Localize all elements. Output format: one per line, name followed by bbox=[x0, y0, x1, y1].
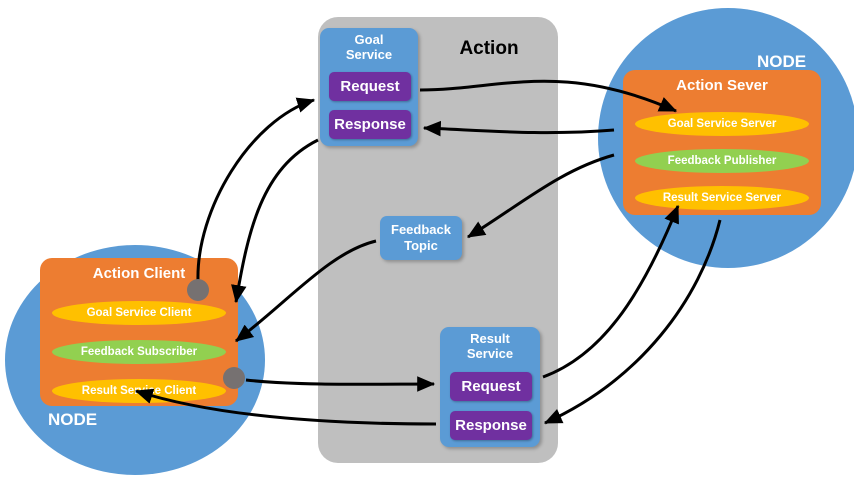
feedback-topic-title-line2: Topic bbox=[404, 238, 438, 254]
result-service-title: Result Service bbox=[440, 331, 540, 361]
result-service-response-chip[interactable]: Response bbox=[450, 411, 532, 440]
result-service-box: Result Service Request Response bbox=[440, 327, 540, 447]
pill-result-service-client[interactable]: Result Service Client bbox=[52, 379, 226, 403]
pill-goal-service-server[interactable]: Goal Service Server bbox=[635, 112, 809, 136]
goal-service-title-line1: Goal bbox=[320, 32, 418, 47]
goal-service-request-chip[interactable]: Request bbox=[329, 72, 411, 101]
node-label-client: NODE bbox=[48, 410, 97, 430]
goal-service-title-line2: Service bbox=[320, 47, 418, 62]
connector-dot-goal-client bbox=[187, 279, 209, 301]
goal-service-title: Goal Service bbox=[320, 32, 418, 62]
diagram-canvas: Action NODE NODE Action Sever Goal Servi… bbox=[0, 0, 854, 480]
node-label-server: NODE bbox=[757, 52, 806, 72]
action-client-box: Action Client Goal Service Client Feedba… bbox=[40, 258, 238, 406]
goal-service-box: Goal Service Request Response bbox=[320, 28, 418, 146]
goal-service-response-chip[interactable]: Response bbox=[329, 110, 411, 139]
action-server-title: Action Sever bbox=[623, 77, 821, 94]
result-service-request-chip[interactable]: Request bbox=[450, 372, 532, 401]
wire-client-goal-to-request bbox=[198, 100, 314, 281]
pill-result-service-server[interactable]: Result Service Server bbox=[635, 186, 809, 210]
connector-dot-result-client bbox=[223, 367, 245, 389]
action-client-title: Action Client bbox=[40, 265, 238, 282]
result-service-title-line2: Service bbox=[440, 346, 540, 361]
action-server-box: Action Sever Goal Service Server Feedbac… bbox=[623, 70, 821, 215]
wire-response-to-goal-client bbox=[236, 140, 318, 302]
pill-feedback-publisher[interactable]: Feedback Publisher bbox=[635, 149, 809, 173]
pill-goal-service-client[interactable]: Goal Service Client bbox=[52, 301, 226, 325]
pill-feedback-subscriber[interactable]: Feedback Subscriber bbox=[52, 340, 226, 364]
action-container-label: Action bbox=[430, 38, 548, 60]
feedback-topic-title-line1: Feedback bbox=[391, 222, 451, 238]
feedback-topic-box[interactable]: Feedback Topic bbox=[380, 216, 462, 260]
result-service-title-line1: Result bbox=[440, 331, 540, 346]
